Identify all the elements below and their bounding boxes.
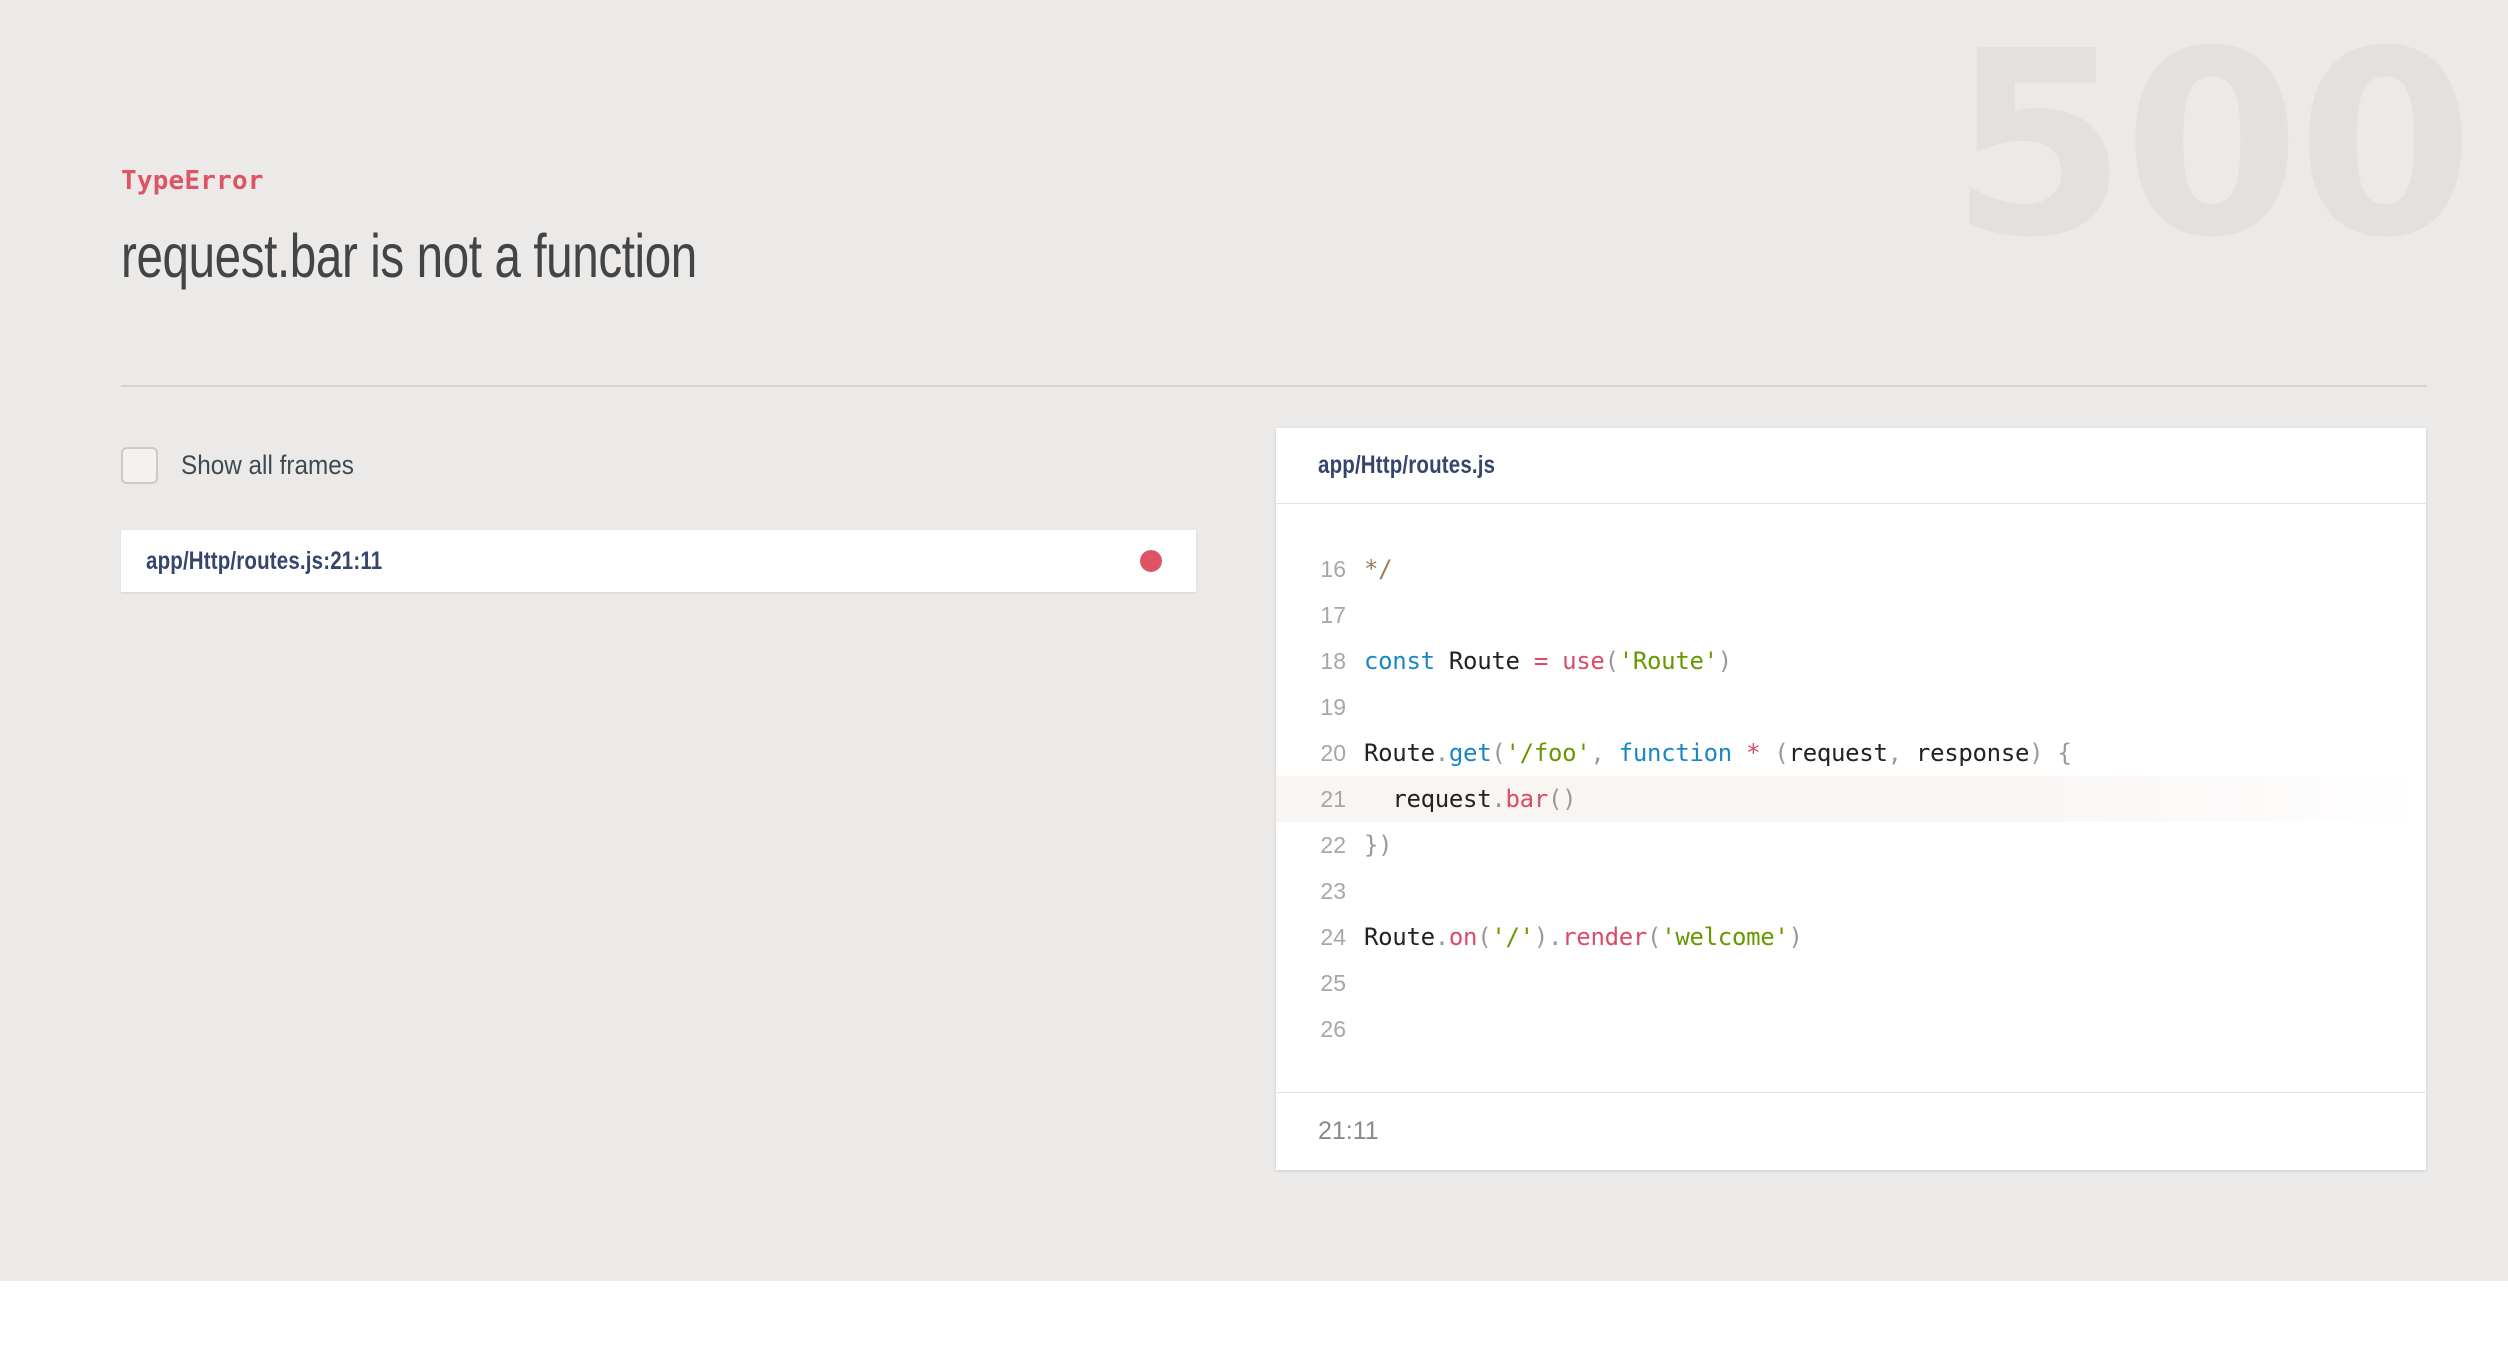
status-code-watermark: 500 — [1950, 18, 2470, 273]
code-token: bar — [1506, 785, 1548, 813]
code-line: 23 — [1276, 868, 2426, 914]
show-all-frames-toggle[interactable]: Show all frames — [121, 442, 1196, 488]
code-line-number: 23 — [1276, 878, 1364, 905]
code-token: '/foo' — [1506, 739, 1591, 767]
code-line: 19 — [1276, 684, 2426, 730]
code-token: { — [2057, 739, 2071, 767]
error-header: TypeError request.bar is not a function — [121, 168, 859, 290]
frame-list-item[interactable]: app/Http/routes.js:21:11 — [121, 530, 1196, 592]
code-token: response — [1916, 739, 2029, 767]
frame-list: app/Http/routes.js:21:11 — [121, 530, 1196, 592]
code-token: get — [1449, 739, 1491, 767]
code-token — [1435, 647, 1449, 675]
code-line: 26 — [1276, 1006, 2426, 1052]
code-token: ) — [1789, 923, 1803, 951]
code-token: ( — [1605, 647, 1619, 675]
code-token: ( — [1774, 739, 1788, 767]
code-token: request — [1392, 785, 1491, 813]
code-token: render — [1562, 923, 1647, 951]
code-token: request — [1789, 739, 1888, 767]
code-line: 17 — [1276, 592, 2426, 638]
code-token: . — [1435, 923, 1449, 951]
code-token: } — [1364, 831, 1378, 859]
code-line: 22}) — [1276, 822, 2426, 868]
code-line-number: 18 — [1276, 648, 1364, 675]
code-line-number: 20 — [1276, 740, 1364, 767]
code-token: Route — [1449, 647, 1520, 675]
code-line-content: Route.get('/foo', function * (request, r… — [1364, 739, 2072, 767]
show-all-frames-checkbox[interactable] — [121, 447, 158, 484]
code-token: function — [1619, 739, 1732, 767]
code-line-number: 26 — [1276, 1016, 1364, 1043]
code-line-content: Route.on('/').render('welcome') — [1364, 923, 1803, 951]
code-token: on — [1449, 923, 1477, 951]
code-line-number: 21 — [1276, 786, 1364, 813]
code-line: 16*/ — [1276, 546, 2426, 592]
code-line-content: */ — [1364, 555, 1392, 583]
code-line-number: 19 — [1276, 694, 1364, 721]
error-type-label: TypeError — [121, 168, 859, 194]
code-token: ( — [1647, 923, 1661, 951]
code-token — [2043, 739, 2057, 767]
frame-item-label: app/Http/routes.js:21:11 — [146, 547, 382, 576]
code-token: ) — [1718, 647, 1732, 675]
code-token: * — [1746, 739, 1760, 767]
code-token: . — [1548, 923, 1562, 951]
code-token: const — [1364, 647, 1435, 675]
code-token: 'welcome' — [1661, 923, 1788, 951]
code-token: ) — [1534, 923, 1548, 951]
header-divider — [121, 385, 2427, 387]
code-token — [1364, 785, 1392, 813]
code-token: ( — [1477, 923, 1491, 951]
code-line-content: request.bar() — [1364, 785, 1576, 813]
code-line-number: 24 — [1276, 924, 1364, 951]
code-token: */ — [1364, 555, 1392, 583]
code-line-number: 17 — [1276, 602, 1364, 629]
code-line: 20Route.get('/foo', function * (request,… — [1276, 730, 2426, 776]
error-message-title: request.bar is not a function — [121, 224, 697, 290]
code-token: 'Route' — [1619, 647, 1718, 675]
error-page: 500 TypeError request.bar is not a funct… — [0, 0, 2508, 1354]
code-token: = — [1534, 647, 1548, 675]
code-line: 24Route.on('/').render('welcome') — [1276, 914, 2426, 960]
code-token: () — [1548, 785, 1576, 813]
code-token: ( — [1491, 739, 1505, 767]
code-preview-panel: app/Http/routes.js 16*/1718const Route =… — [1276, 428, 2426, 1170]
code-token — [1520, 647, 1534, 675]
code-line: 25 — [1276, 960, 2426, 1006]
code-token: ) — [2029, 739, 2043, 767]
code-token: Route — [1364, 923, 1435, 951]
frame-active-dot-icon — [1140, 550, 1162, 572]
code-token: . — [1491, 785, 1505, 813]
code-line-number: 22 — [1276, 832, 1364, 859]
code-line-content: const Route = use('Route') — [1364, 647, 1732, 675]
code-token: Route — [1364, 739, 1435, 767]
code-position-indicator: 21:11 — [1318, 1117, 1379, 1146]
code-token: , — [1590, 739, 1604, 767]
code-token — [1605, 739, 1619, 767]
code-token: use — [1562, 647, 1604, 675]
frames-column: Show all frames app/Http/routes.js:21:11 — [121, 442, 1196, 592]
code-panel-header: app/Http/routes.js — [1276, 428, 2426, 504]
code-lines-container: 16*/1718const Route = use('Route')1920Ro… — [1276, 504, 2426, 1092]
code-line-number: 25 — [1276, 970, 1364, 997]
code-token — [1760, 739, 1774, 767]
code-token — [1732, 739, 1746, 767]
code-token: ) — [1378, 831, 1392, 859]
code-token: . — [1435, 739, 1449, 767]
code-token — [1902, 739, 1916, 767]
show-all-frames-label: Show all frames — [181, 450, 354, 481]
code-panel-footer: 21:11 — [1276, 1092, 2426, 1170]
code-line: 18const Route = use('Route') — [1276, 638, 2426, 684]
code-panel-filename: app/Http/routes.js — [1318, 451, 1495, 480]
code-token — [1548, 647, 1562, 675]
code-line-number: 16 — [1276, 556, 1364, 583]
code-token: , — [1888, 739, 1902, 767]
code-line-content: }) — [1364, 831, 1392, 859]
code-token: '/' — [1491, 923, 1533, 951]
code-line: 21 request.bar() — [1276, 776, 2426, 822]
